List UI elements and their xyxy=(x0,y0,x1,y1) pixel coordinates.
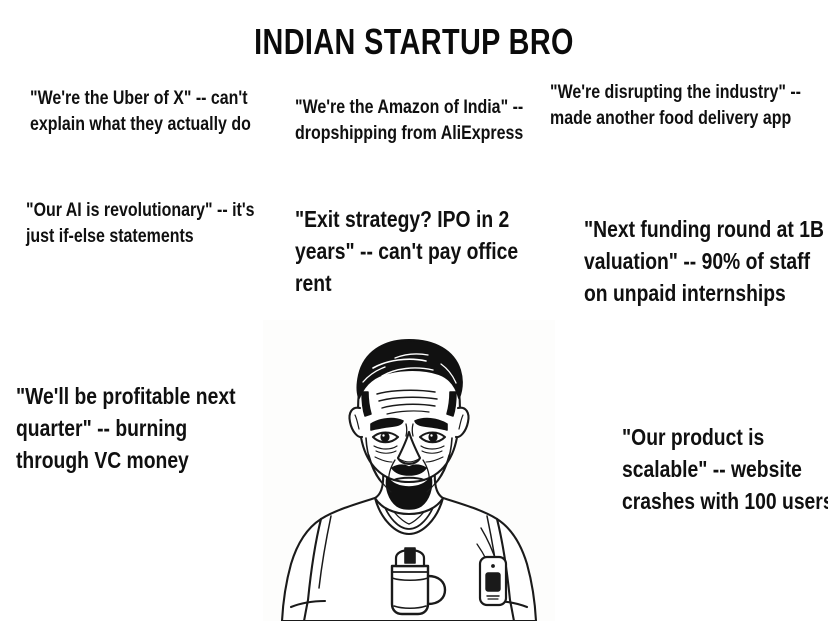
caption-disrupting-industry: "We're disrupting the industry" -- made … xyxy=(550,80,810,132)
meme-canvas: INDIAN STARTUP BRO "We're the Uber of X"… xyxy=(0,0,828,621)
founder-line-art xyxy=(263,320,555,621)
caption-funding-round: "Next funding round at 1B valuation" -- … xyxy=(584,213,828,309)
caption-exit-strategy: "Exit strategy? IPO in 2 years" -- can't… xyxy=(295,203,539,299)
caption-profitable-next-quarter: "We'll be profitable next quarter" -- bu… xyxy=(16,380,260,476)
founder-illustration xyxy=(263,320,555,621)
caption-amazon: "We're the Amazon of India" -- dropshipp… xyxy=(295,95,532,147)
caption-uber: "We're the Uber of X" -- can't explain w… xyxy=(30,86,274,138)
mobile-phone-icon xyxy=(480,557,506,605)
caption-ai-revolutionary: "Our AI is revolutionary" -- it's just i… xyxy=(26,198,270,250)
page-title: INDIAN STARTUP BRO xyxy=(83,22,745,62)
caption-scalable-product: "Our product is scalable" -- website cra… xyxy=(622,421,828,517)
